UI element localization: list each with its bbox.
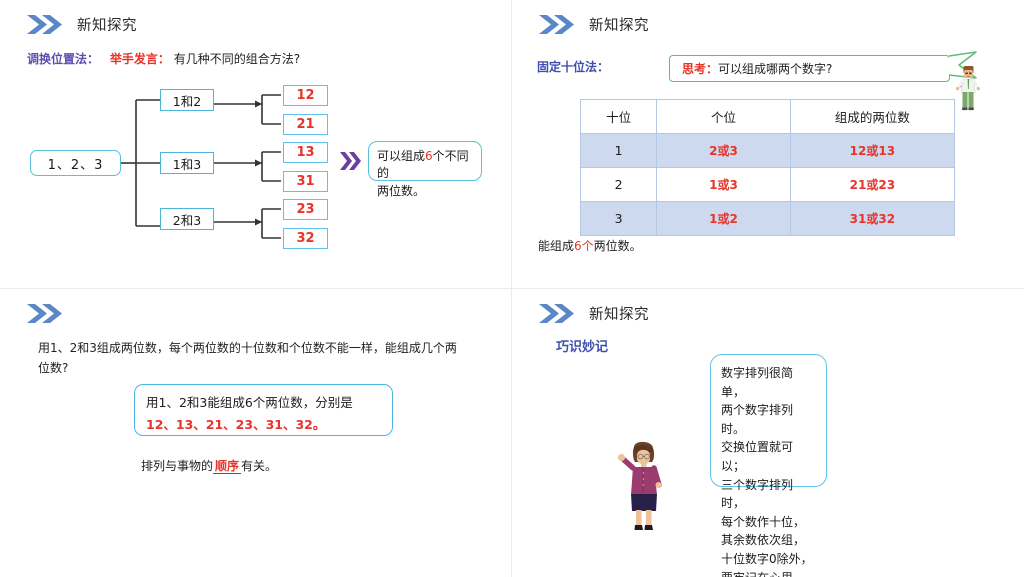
tree-number-node: 12 bbox=[283, 85, 328, 106]
callout-count: 6 bbox=[425, 149, 433, 163]
tree-pair-node: 1和3 bbox=[160, 152, 214, 174]
method-label: 固定十位法： bbox=[537, 58, 609, 75]
table-cell-ones: 1或2 bbox=[657, 202, 791, 236]
summary-blank: 顺序 bbox=[213, 459, 241, 474]
double-chevron-icon bbox=[538, 303, 578, 324]
table-row: 3 1或2 31或32 bbox=[581, 202, 955, 236]
panel-header: 新知探究 bbox=[538, 14, 649, 35]
tree-number-node: 21 bbox=[283, 114, 328, 135]
tree-number-node: 31 bbox=[283, 171, 328, 192]
tree-pair-node: 1和2 bbox=[160, 89, 214, 111]
table-cell-tens: 1 bbox=[581, 134, 657, 168]
poem-line: 其余数依次组， bbox=[721, 531, 816, 550]
page-title: 新知探究 bbox=[589, 303, 649, 324]
table-cell-result: 12或13 bbox=[790, 134, 954, 168]
callout-line1-pre: 可以组成 bbox=[377, 149, 425, 163]
poem-line: 交换位置就可以； bbox=[721, 438, 816, 475]
conclusion-pre: 能组成 bbox=[538, 239, 574, 253]
purple-double-chevron-icon bbox=[339, 151, 363, 171]
table-cell-tens: 2 bbox=[581, 168, 657, 202]
panel-bottom-left: 用1、2和3组成两位数，每个两位数的十位数和个位数不能一样，能组成几个两位数? … bbox=[0, 289, 512, 577]
summary-pre: 排列与事物的 bbox=[141, 459, 213, 473]
poem-line: 三个数字排列时， bbox=[721, 476, 816, 513]
boy-teacher-icon bbox=[955, 63, 981, 115]
panel-bottom-right: 新知探究 巧识妙记 bbox=[512, 289, 1024, 577]
bubble-prefix: 思考： bbox=[682, 60, 718, 77]
panel-header: 新知探究 bbox=[538, 303, 649, 324]
conclusion-count: 6个 bbox=[574, 239, 594, 253]
tree-number-node: 32 bbox=[283, 228, 328, 249]
table-cell-ones: 1或3 bbox=[657, 168, 791, 202]
conclusion-post: 两位数。 bbox=[594, 239, 642, 253]
table-cell-tens: 3 bbox=[581, 202, 657, 236]
tree-root-node: 1、2、3 bbox=[30, 150, 121, 176]
poem-line: 要牢记在心里边。 bbox=[721, 569, 816, 577]
conclusion-text: 能组成6个两位数。 bbox=[538, 237, 642, 254]
female-teacher-icon bbox=[612, 437, 674, 533]
table-header-cell: 个位 bbox=[657, 100, 791, 134]
summary-post: 有关。 bbox=[241, 459, 277, 473]
table-cell-ones: 2或3 bbox=[657, 134, 791, 168]
table-header-row: 十位 个位 组成的两位数 bbox=[581, 100, 955, 134]
page-title: 新知探究 bbox=[589, 14, 649, 35]
tree-number-node: 23 bbox=[283, 199, 328, 220]
table-header-cell: 十位 bbox=[581, 100, 657, 134]
tree-number-node: 13 bbox=[283, 142, 328, 163]
panel-top-right: 新知探究 固定十位法： 思考：可以组成哪两个数字? bbox=[512, 0, 1024, 289]
panel-top-left: 新知探究 调换位置法： 举手发言： 有几种不同的组合方法? bbox=[0, 0, 512, 289]
panel-header bbox=[26, 303, 77, 324]
double-chevron-icon bbox=[26, 303, 66, 324]
summary-text: 排列与事物的顺序有关。 bbox=[141, 457, 277, 474]
poem-line: 数字排列很简单， bbox=[721, 364, 816, 401]
callout-line2: 两位数。 bbox=[377, 184, 425, 198]
poem-line: 两个数字排列时。 bbox=[721, 401, 816, 438]
table-row: 2 1或3 21或23 bbox=[581, 168, 955, 202]
poem-line: 十位数字0除外， bbox=[721, 550, 816, 569]
thought-bubble: 思考：可以组成哪两个数字? bbox=[669, 55, 950, 82]
answer-line1: 用1、2和3能组成6个两位数，分别是 bbox=[146, 395, 353, 410]
double-chevron-icon bbox=[538, 14, 578, 35]
combination-table: 十位 个位 组成的两位数 1 2或3 12或13 2 1或3 21或23 3 bbox=[580, 99, 955, 236]
poem-line: 每个数作十位， bbox=[721, 513, 816, 532]
poem-box: 数字排列很简单， 两个数字排列时。 交换位置就可以； 三个数字排列时， 每个数作… bbox=[710, 354, 827, 487]
answer-box: 用1、2和3能组成6个两位数，分别是12、13、21、23、31、32。 bbox=[134, 384, 393, 436]
bubble-text: 可以组成哪两个数字? bbox=[718, 60, 832, 77]
section-label: 巧识妙记 bbox=[556, 336, 608, 355]
table-row: 1 2或3 12或13 bbox=[581, 134, 955, 168]
slide-grid: 新知探究 调换位置法： 举手发言： 有几种不同的组合方法? bbox=[0, 0, 1024, 577]
answer-numbers: 12、13、21、23、31、32。 bbox=[146, 417, 325, 432]
tree-callout: 可以组成6个不同的 两位数。 bbox=[368, 141, 482, 181]
question-text: 用1、2和3组成两位数，每个两位数的十位数和个位数不能一样，能组成几个两位数? bbox=[38, 339, 458, 379]
table-header-cell: 组成的两位数 bbox=[790, 100, 954, 134]
table-cell-result: 21或23 bbox=[790, 168, 954, 202]
table-cell-result: 31或32 bbox=[790, 202, 954, 236]
tree-pair-node: 2和3 bbox=[160, 208, 214, 230]
